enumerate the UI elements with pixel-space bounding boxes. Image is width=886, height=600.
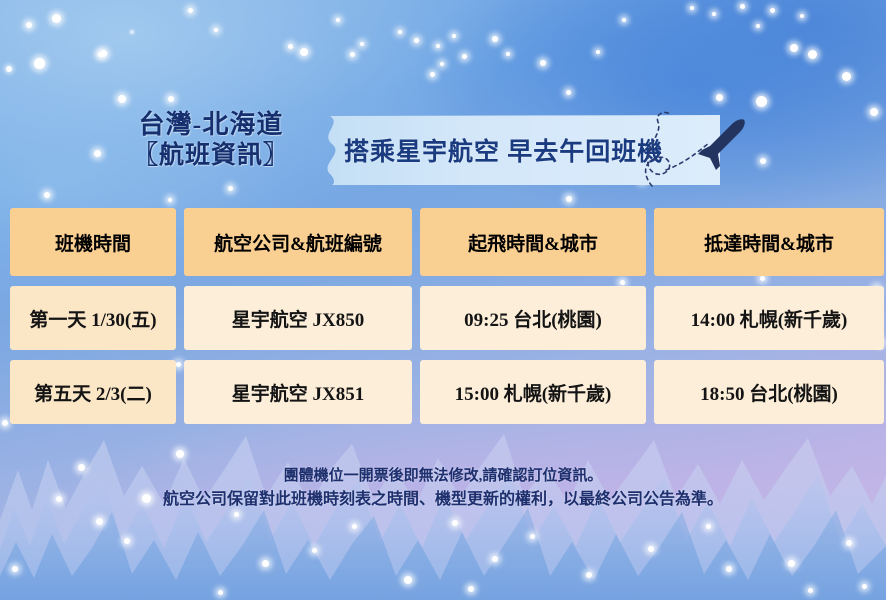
airplane-icon [640, 108, 750, 192]
title-line-1: 台灣-北海道 [86, 110, 336, 141]
cell-flight-date: 第一天 1/30(五) [10, 286, 176, 350]
poster-title: 台灣-北海道 〖航班資訊〗 [86, 110, 336, 170]
column-header-airline-flight-no: 航空公司&航班編號 [184, 208, 412, 276]
table-row: 第一天 1/30(五) 星宇航空 JX850 09:25 台北(桃園) 14:0… [10, 286, 876, 350]
banner-text: 搭乘星宇航空 早去午回班機 [344, 114, 663, 186]
flight-schedule-table: 班機時間 航空公司&航班編號 起飛時間&城市 抵達時間&城市 第一天 1/30(… [10, 208, 876, 424]
note-line-1: 團體機位一開票後即無法修改,請確認訂位資訊。 [0, 466, 886, 488]
column-header-arrival: 抵達時間&城市 [654, 208, 884, 276]
title-line-2: 〖航班資訊〗 [86, 141, 336, 171]
cell-flight-date: 第五天 2/3(二) [10, 360, 176, 424]
disclaimer-notes: 團體機位一開票後即無法修改,請確認訂位資訊。 航空公司保留對此班機時刻表之時間、… [0, 466, 886, 511]
note-line-2: 航空公司保留對此班機時刻表之時間、機型更新的權利，以最終公司公告為準。 [0, 488, 886, 511]
cell-airline-flight-no: 星宇航空 JX850 [184, 286, 412, 350]
table-row: 第五天 2/3(二) 星宇航空 JX851 15:00 札幌(新千歲) 18:5… [10, 360, 876, 424]
cell-arrival: 14:00 札幌(新千歲) [654, 286, 884, 350]
cell-departure: 15:00 札幌(新千歲) [420, 360, 646, 424]
column-header-departure: 起飛時間&城市 [420, 208, 646, 276]
column-header-flight-date: 班機時間 [10, 208, 176, 276]
cell-departure: 09:25 台北(桃園) [420, 286, 646, 350]
table-header-row: 班機時間 航空公司&航班編號 起飛時間&城市 抵達時間&城市 [10, 208, 876, 276]
cell-arrival: 18:50 台北(桃園) [654, 360, 884, 424]
cell-airline-flight-no: 星宇航空 JX851 [184, 360, 412, 424]
poster-canvas: 台灣-北海道 〖航班資訊〗 搭乘星宇航空 早去午回班機 [0, 0, 886, 600]
